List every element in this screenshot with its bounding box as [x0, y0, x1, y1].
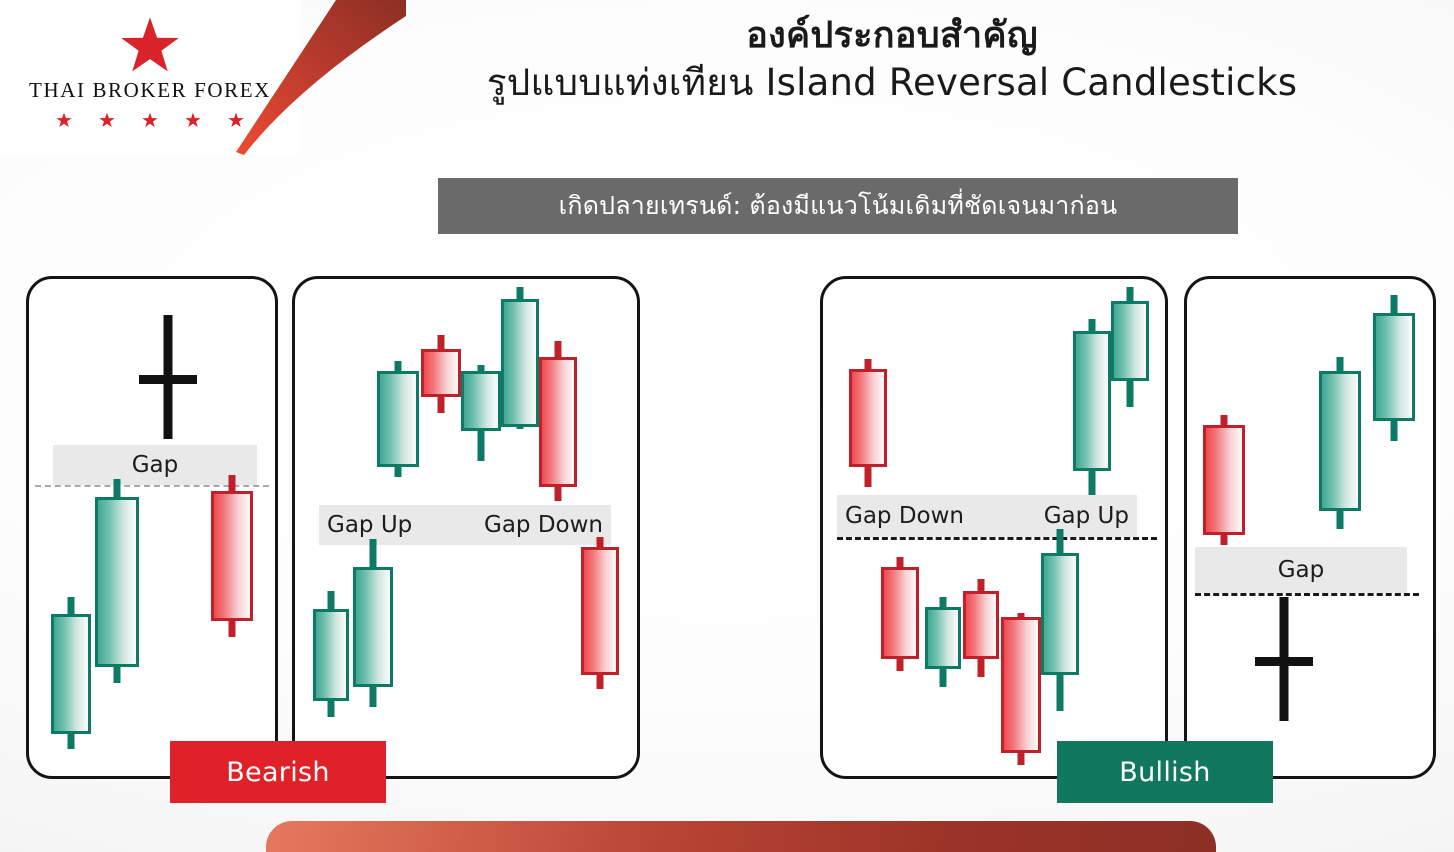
- star-icon: [185, 112, 201, 128]
- gap-boundary-line: [1195, 593, 1419, 596]
- gap-boundary-line: [837, 537, 1157, 540]
- gap-label-band: Gap: [1195, 547, 1407, 593]
- pattern-panel-bearish-full: Gap Up Gap Down: [292, 276, 640, 779]
- rating-stars: [56, 112, 244, 128]
- infographic-canvas: THAI BROKER FOREX องค์ประกอบสำคัญ: [0, 0, 1454, 852]
- candle-up: [501, 287, 539, 429]
- gap-label: Gap: [1278, 559, 1325, 582]
- star-icon: [142, 112, 158, 128]
- gap-down-label: Gap Down: [845, 505, 964, 528]
- candle-up: [1373, 295, 1415, 441]
- candle-down: [881, 557, 919, 671]
- candle-up: [313, 591, 349, 717]
- candle-up: [51, 597, 91, 749]
- candle-up: [353, 539, 393, 707]
- candle-up: [377, 361, 419, 477]
- candle-down: [421, 335, 461, 413]
- candle-up: [1073, 319, 1111, 495]
- gap-label-band: Gap Down Gap Up: [837, 495, 1137, 537]
- gap-up-label: Gap Up: [1044, 505, 1129, 528]
- candle-up: [1041, 529, 1079, 711]
- gap-up-label: Gap Up: [327, 514, 412, 537]
- badge-label: Bearish: [226, 757, 330, 788]
- title-line-1: องค์ประกอบสำคัญ: [330, 14, 1454, 58]
- status-badge-bullish: Bullish: [1057, 741, 1273, 803]
- pattern-panel-bullish-simple: Gap: [1184, 276, 1436, 779]
- gap-label: Gap: [132, 454, 179, 477]
- candle-down: [1203, 415, 1245, 545]
- candle-down: [581, 537, 619, 689]
- brand-logo: THAI BROKER FOREX: [0, 0, 300, 155]
- brand-name: THAI BROKER FOREX: [29, 78, 271, 103]
- candle-up: [461, 365, 501, 461]
- pattern-panel-bullish-full: Gap Down Gap Up: [820, 276, 1168, 779]
- bottom-accent-bar: [266, 821, 1216, 852]
- candle-up: [1111, 287, 1149, 407]
- badge-label: Bullish: [1119, 757, 1210, 788]
- star-icon: [228, 112, 244, 128]
- pattern-panel-bearish-simple: Gap: [26, 276, 278, 779]
- page-title: องค์ประกอบสำคัญ รูปแบบแท่งเทียน Island R…: [330, 14, 1454, 105]
- subtitle-text: เกิดปลายเทรนด์: ต้องมีแนวโน้มเดิมที่ชัดเ…: [559, 186, 1118, 226]
- star-icon: [120, 16, 180, 74]
- status-badge-bearish: Bearish: [170, 741, 386, 803]
- candle-down: [963, 579, 999, 677]
- gap-down-label: Gap Down: [484, 514, 603, 537]
- candle-up: [95, 479, 139, 683]
- star-icon: [99, 112, 115, 128]
- title-line-2: รูปแบบแท่งเทียน Island Reversal Candlest…: [330, 60, 1454, 105]
- doji-candle: [139, 315, 197, 439]
- candle-down: [211, 475, 253, 637]
- subtitle-banner: เกิดปลายเทรนด์: ต้องมีแนวโน้มเดิมที่ชัดเ…: [438, 178, 1238, 234]
- star-icon: [56, 112, 72, 128]
- candle-down: [539, 341, 577, 501]
- candle-up: [925, 597, 961, 687]
- doji-candle: [1255, 597, 1313, 721]
- candle-down: [1001, 613, 1041, 765]
- candle-up: [1319, 357, 1361, 529]
- candle-down: [849, 359, 887, 487]
